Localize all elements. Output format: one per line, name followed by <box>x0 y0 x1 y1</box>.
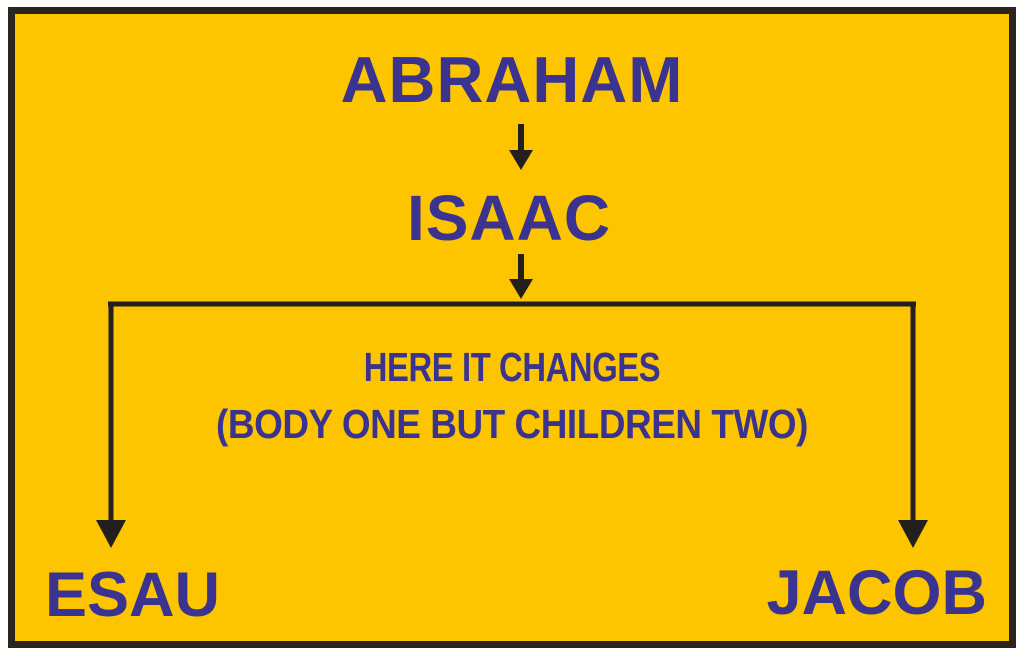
connector-abraham-to-isaac <box>509 124 533 170</box>
node-abraham: ABRAHAM <box>15 47 1009 112</box>
node-jacob: JACOB <box>766 562 987 625</box>
diagram-canvas: ABRAHAM ISAAC HERE IT CHANGES (BODY ONE … <box>0 0 1024 656</box>
connector-split-to-jacob <box>898 304 928 548</box>
node-esau: ESAU <box>45 564 220 627</box>
caption-line-1: HERE IT CHANGES <box>202 339 821 396</box>
node-isaac: ISAAC <box>15 186 1009 250</box>
connector-isaac-to-split <box>509 254 533 299</box>
caption-block: HERE IT CHANGES (BODY ONE BUT CHILDREN T… <box>125 339 899 452</box>
caption-line-2: (BODY ONE BUT CHILDREN TWO) <box>164 396 861 453</box>
diagram-frame: ABRAHAM ISAAC HERE IT CHANGES (BODY ONE … <box>8 7 1016 648</box>
connector-split-to-esau <box>96 304 126 548</box>
